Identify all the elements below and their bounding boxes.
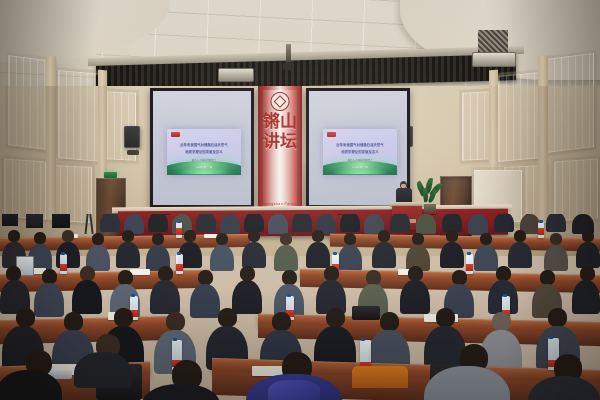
audience-head — [6, 266, 21, 281]
ceiling-projector-right — [470, 30, 516, 70]
audience-head — [324, 266, 339, 281]
projector-scissor-mount — [478, 30, 508, 52]
audience-head — [8, 230, 20, 242]
slide-title-line2: 地质学理论的突破及意义 — [172, 150, 236, 156]
jacket-highlight — [268, 380, 320, 400]
bottle-cap — [503, 294, 507, 297]
audience-head — [326, 308, 345, 327]
pendant-light-rod — [286, 44, 291, 64]
audience-head — [80, 266, 95, 281]
audience-head — [64, 312, 83, 331]
audience-head — [344, 233, 356, 245]
audience-head — [42, 269, 57, 284]
audience-head — [282, 270, 297, 285]
audience-person — [416, 214, 436, 234]
audience-person — [306, 242, 330, 268]
slide-title-line1: 近年来我国气对储典石油天然气 — [172, 143, 236, 149]
audience-person — [142, 384, 220, 400]
audience-person — [576, 242, 600, 268]
audience-head — [198, 270, 213, 285]
bottle-cap — [549, 336, 553, 339]
photographer — [2, 214, 18, 226]
slide-logo-icon — [171, 132, 181, 137]
audience-head — [492, 312, 511, 331]
audience-head — [216, 233, 228, 245]
tripod-leg — [85, 214, 89, 234]
audience-head — [184, 230, 196, 242]
audience-head — [248, 230, 260, 242]
audience-person — [72, 280, 102, 314]
water-bottle — [466, 254, 473, 274]
auditorium-photo: 近年来我国气对储典石油天然气 地质学理论的突破及意义 报告人 中国科学院院士 2… — [0, 0, 600, 400]
bottle-cap — [131, 294, 135, 297]
audience-head — [514, 230, 526, 242]
audience-person-orange-shirt — [352, 366, 408, 388]
screen-surface: 近年来我国气对储典石油天然气 地质学理论的突破及意义 报告人 中国科学院院士 2… — [309, 91, 407, 205]
ceiling-projector-center — [218, 60, 252, 86]
bottle-cap — [467, 252, 471, 255]
audience-person — [196, 214, 216, 232]
audience-person — [340, 214, 360, 232]
audience-head — [62, 230, 74, 242]
slide-footer: 2019年·第十一期 — [188, 166, 221, 169]
audience-head — [496, 266, 511, 281]
water-bottle — [538, 222, 544, 238]
bottle-cap — [177, 252, 181, 255]
audience-area — [0, 214, 600, 400]
audience-person — [372, 242, 396, 268]
bottle-cap — [61, 252, 65, 255]
audience-person — [74, 352, 132, 388]
projector-body — [218, 68, 254, 82]
screen-surface: 近年来我国气对储典石油天然气 地质学理论的突破及意义 报告人 中国科学院院士 2… — [153, 91, 251, 205]
tripod-leg — [88, 214, 93, 234]
vertical-forum-banner: 锵山讲坛 Mangshan Forum — [258, 86, 302, 211]
water-bottle — [176, 222, 182, 238]
bottle-cap — [173, 338, 177, 341]
slide-title-line1: 近年来我国气对储典石油天然气 — [328, 143, 392, 149]
audience-head — [34, 232, 46, 244]
audience-person — [220, 214, 240, 234]
audience-head — [540, 270, 555, 285]
audience-head — [550, 233, 562, 245]
audience-person — [440, 242, 464, 268]
audience-person — [400, 280, 430, 314]
audience-person — [210, 245, 234, 271]
bottle-cap — [177, 220, 181, 223]
projected-slide: 近年来我国气对储典石油天然气 地质学理论的突破及意义 报告人 中国科学院院士 2… — [167, 129, 241, 175]
slide-logo-icon — [327, 132, 337, 137]
audience-person — [292, 214, 312, 232]
audience-head — [240, 266, 255, 281]
laptop-device[interactable] — [352, 306, 380, 320]
paper-sheet — [130, 269, 150, 275]
bottle-cap — [287, 294, 291, 297]
audience-head — [548, 308, 567, 327]
slide-footer: 2019年·第十一期 — [344, 166, 377, 169]
audience-head — [366, 270, 381, 285]
bottle-cap — [361, 338, 365, 341]
audience-person — [544, 245, 568, 271]
audience-person — [572, 280, 600, 314]
audience-person — [150, 280, 180, 314]
audience-person — [242, 242, 266, 268]
audience-person — [268, 214, 288, 234]
audience-person — [34, 283, 64, 317]
bottle-label — [176, 228, 182, 235]
audience-head — [272, 312, 291, 331]
bottle-label — [60, 264, 67, 271]
audience-head — [166, 312, 185, 331]
slide-title-line2: 地质学理论的突破及意义 — [328, 150, 392, 156]
banner-characters: 锵山讲坛 — [258, 112, 302, 152]
audience-head — [378, 230, 390, 242]
university-seal-icon — [271, 92, 290, 111]
audience-head — [580, 266, 595, 281]
audience-head — [480, 233, 492, 245]
audience-person — [190, 284, 220, 318]
bottle-label — [176, 264, 183, 271]
audience-head — [152, 233, 164, 245]
audience-person — [494, 214, 514, 232]
audience-head — [452, 270, 467, 285]
bottle-label — [538, 228, 544, 235]
audience-person — [468, 214, 488, 234]
audience-person — [274, 245, 298, 271]
plant-pot — [424, 204, 436, 212]
bottle-cap — [333, 252, 337, 255]
audience-person — [100, 214, 120, 232]
audience-head — [114, 308, 133, 327]
left-projection-screen: 近年来我国气对储典石油天然气 地质学理论的突破及意义 报告人 中国科学院院士 2… — [150, 88, 254, 208]
audience-head — [582, 230, 594, 242]
audience-person — [508, 242, 532, 268]
audience-person — [390, 214, 410, 232]
photographer — [26, 214, 43, 228]
right-projection-screen: 近年来我国气对储典石油天然气 地质学理论的突破及意义 报告人 中国科学院院士 2… — [306, 88, 410, 208]
audience-head — [218, 308, 237, 327]
audience-head — [92, 233, 104, 245]
bottle-cap — [539, 220, 543, 223]
audience-person — [546, 214, 566, 232]
audience-head — [380, 312, 399, 331]
audience-person — [232, 280, 262, 314]
audience-person — [148, 214, 168, 232]
audience-head — [436, 308, 455, 327]
audience-head — [446, 230, 458, 242]
audience-person — [338, 245, 362, 271]
audience-head — [122, 230, 134, 242]
audience-head — [412, 233, 424, 245]
audience-head — [118, 270, 133, 285]
water-bottle — [176, 254, 183, 274]
projector-body — [472, 52, 516, 67]
pendant-light-icon — [283, 62, 294, 70]
water-bottle — [60, 254, 67, 274]
audience-head — [16, 308, 35, 327]
audience-head — [408, 266, 423, 281]
audience-person — [474, 245, 498, 271]
audience-head — [158, 266, 173, 281]
audience-head — [312, 230, 324, 242]
photographer — [52, 214, 70, 228]
bottle-label — [466, 264, 473, 271]
projected-slide: 近年来我国气对储典石油天然气 地质学理论的突破及意义 报告人 中国科学院院士 2… — [323, 129, 397, 175]
audience-person — [116, 242, 140, 268]
audience-head — [280, 233, 292, 245]
